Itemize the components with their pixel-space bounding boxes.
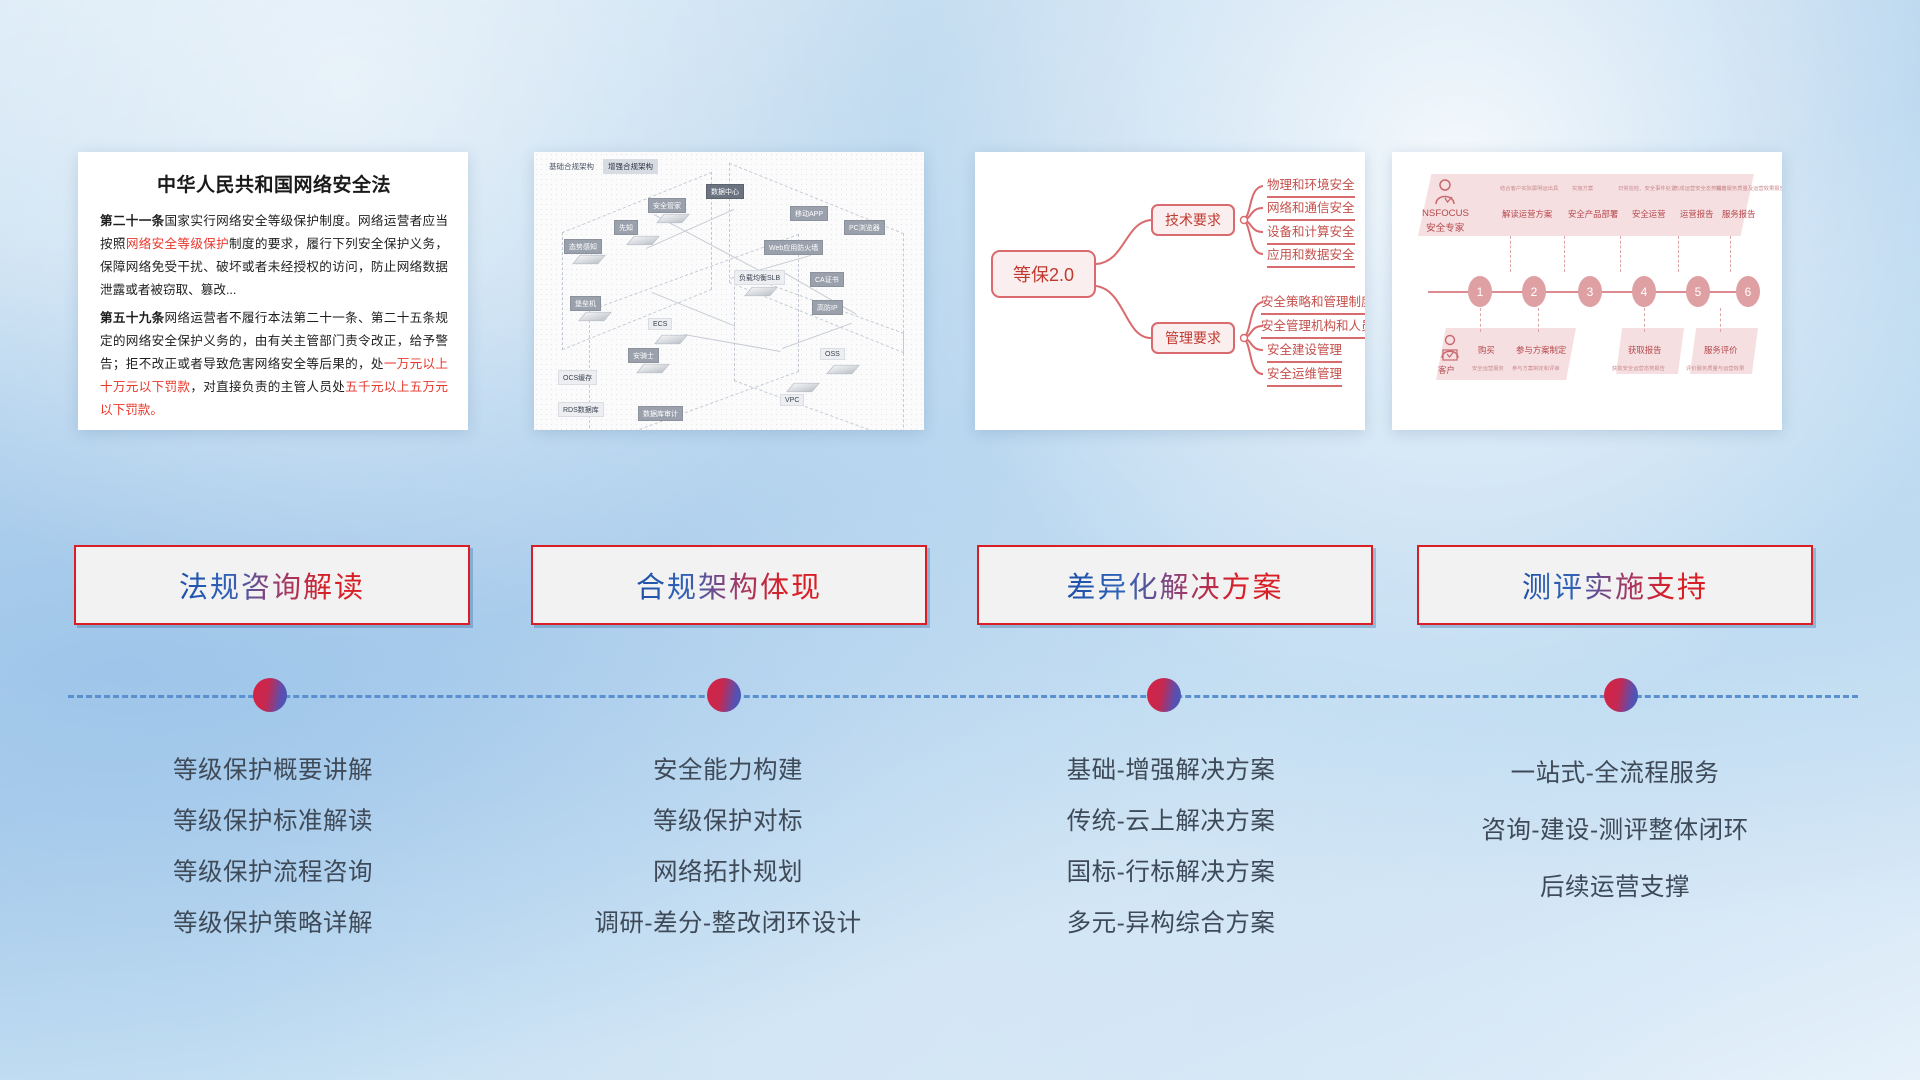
nsfocus-step: 1: [1468, 276, 1492, 307]
law-title: 中华人民共和国网络安全法: [100, 170, 448, 197]
image-card-row: 中华人民共和国网络安全法 第二十一条国家实行网络安全等级保护制度。网络运营者应当…: [0, 152, 1920, 432]
nsfocus-brand: NSFOCUS: [1422, 208, 1469, 219]
nsfocus-top-sub: 输出服务质量及运营效果报告: [1716, 184, 1782, 192]
nsfocus-step: 6: [1736, 276, 1760, 307]
customer-person-icon: [1438, 334, 1462, 362]
mindmap-branch-management: 管理要求: [1151, 322, 1235, 354]
nsfocus-top-label: 运营报告: [1680, 208, 1714, 220]
section-title-text: 法规咨询解读: [179, 564, 365, 606]
poster-canvas: 中华人民共和国网络安全法 第二十一条国家实行网络安全等级保护制度。网络运营者应当…: [0, 0, 1920, 1080]
arch-node-mobile-app: 移动APP: [790, 206, 828, 221]
mindmap-leaf: 设备和计算安全: [1267, 221, 1355, 245]
card-architecture-diagram: 基础合规架构 增强合规架构 数据中心 安全管家 先知 态势: [534, 152, 924, 430]
nsfocus-brand-sub: 安全专家: [1426, 220, 1464, 234]
nsfocus-top-sub: 结合客户实际需明运出具: [1500, 184, 1558, 192]
arch-node-ecs: ECS: [648, 318, 672, 330]
nsfocus-top-label: 安全产品部署: [1568, 208, 1618, 220]
law-article-21: 第二十一条国家实行网络安全等级保护制度。网络运营者应当按照网络安全等级保护制度的…: [100, 210, 448, 302]
arch-node-ca: CA证书: [810, 272, 844, 287]
nsfocus-top-sub: 日常巡检、安全事件处置: [1618, 184, 1676, 192]
detail-list-1: 等级保护概要讲解 等级保护标准解读 等级保护流程咨询 等级保护策略详解: [78, 745, 468, 949]
arch-node-bastion: 堡垒机: [570, 296, 601, 311]
article-21-label: 第二十一条: [100, 214, 165, 228]
arch-node-anti-ddos: 高防IP: [812, 300, 843, 315]
list-item: 国标-行标解决方案: [973, 847, 1369, 898]
list-item: 等级保护概要讲解: [78, 745, 468, 796]
article-21-highlight: 网络安全等级保护: [126, 237, 229, 251]
arch-node-db-audit: 数据库审计: [638, 406, 683, 421]
nsfocus-connector: [1620, 236, 1621, 272]
timeline-marker-1[interactable]: [253, 678, 287, 712]
list-item: 多元-异构综合方案: [973, 898, 1369, 949]
detail-list-4: 一站式-全流程服务 咨询-建设-测评整体闭环 后续运营支撑: [1410, 745, 1820, 916]
architecture-canvas: 基础合规架构 增强合规架构 数据中心 安全管家 先知 态势: [534, 152, 924, 430]
section-title-box-1[interactable]: 法规咨询解读: [74, 545, 470, 625]
nsfocus-canvas: NSFOCUS 安全专家 结合客户实际需明运出具 解读运营方案 实施方案 安全产…: [1392, 152, 1782, 430]
section-title-row: 法规咨询解读 合规架构体现 差异化解决方案 测评实施支持: [0, 545, 1920, 627]
section-title-box-4[interactable]: 测评实施支持: [1417, 545, 1813, 625]
section-title-box-2[interactable]: 合规架构体现: [531, 545, 927, 625]
detail-list-3: 基础-增强解决方案 传统-云上解决方案 国标-行标解决方案 多元-异构综合方案: [973, 745, 1369, 949]
mindmap-canvas: 等保2.0 技术要求 管理要求 物理和环境安全 网络和通信安全 设备和计算安全 …: [975, 152, 1365, 430]
nsfocus-customer: 客户: [1438, 364, 1455, 376]
list-item: 传统-云上解决方案: [973, 796, 1369, 847]
timeline-dashed-line: [68, 695, 1858, 698]
timeline-marker-3[interactable]: [1147, 678, 1181, 712]
nsfocus-bottom-sub: 安全运营服务: [1472, 364, 1504, 372]
nsfocus-step: 4: [1632, 276, 1656, 307]
architecture-tabs: 基础合规架构 增强合规架构: [544, 159, 658, 174]
article-59-label: 第五十九条: [100, 311, 165, 325]
nsfocus-bottom-label: 服务评价: [1704, 344, 1738, 356]
mindmap-leaf: 安全策略和管理制度: [1261, 291, 1365, 315]
arch-node-vpc: VPC: [780, 394, 804, 406]
list-item: 网络拓扑规划: [530, 847, 926, 898]
mindmap-leaf: 安全建设管理: [1267, 339, 1342, 363]
section-title-text: 合规架构体现: [636, 564, 822, 606]
nsfocus-connector: [1480, 308, 1481, 332]
card-nsfocus-timeline: NSFOCUS 安全专家 结合客户实际需明运出具 解读运营方案 实施方案 安全产…: [1392, 152, 1782, 430]
nsfocus-bottom-sub: 评价服务质量与运营效果: [1686, 364, 1744, 372]
arch-node-oss: OSS: [820, 348, 845, 360]
timeline-marker-2[interactable]: [707, 678, 741, 712]
nsfocus-connector: [1720, 308, 1721, 332]
timeline-marker-4[interactable]: [1604, 678, 1638, 712]
arch-node-waf: Web应用防火墙: [764, 240, 823, 255]
arch-node-pc-browser: PC浏览器: [844, 220, 885, 235]
list-item: 一站式-全流程服务: [1410, 745, 1820, 802]
card-law-document: 中华人民共和国网络安全法 第二十一条国家实行网络安全等级保护制度。网络运营者应当…: [78, 152, 468, 430]
list-item: 等级保护对标: [530, 796, 926, 847]
list-item: 等级保护标准解读: [78, 796, 468, 847]
nsfocus-bottom-sub: 参与方案制定和评审: [1512, 364, 1560, 372]
mindmap-branch-technical: 技术要求: [1151, 204, 1235, 236]
mindmap-root: 等保2.0: [991, 250, 1096, 298]
arch-tab-basic: 基础合规架构: [544, 159, 599, 174]
list-item: 后续运营支撑: [1410, 859, 1820, 916]
section-title-box-3[interactable]: 差异化解决方案: [977, 545, 1373, 625]
arch-node-security-butler: 安全管家: [648, 198, 686, 213]
arch-node-datacenter: 数据中心: [706, 184, 744, 199]
nsfocus-top-label: 安全运营: [1632, 208, 1666, 220]
mindmap-leaf: 网络和通信安全: [1267, 197, 1355, 221]
nsfocus-top-label: 解读运营方案: [1502, 208, 1552, 220]
arch-tab-enhanced: 增强合规架构: [603, 159, 658, 174]
article-59-mid: ，对直接负责的主管人员处: [190, 380, 345, 394]
nsfocus-top-label: 服务报告: [1722, 208, 1756, 220]
nsfocus-bottom-label: 获取报告: [1628, 344, 1662, 356]
list-item: 等级保护策略详解: [78, 898, 468, 949]
nsfocus-step: 2: [1522, 276, 1546, 307]
mindmap-leaf: 应用和数据安全: [1267, 244, 1355, 268]
nsfocus-connector: [1538, 308, 1539, 332]
mindmap-leaf: 安全运维管理: [1267, 363, 1342, 387]
list-item: 基础-增强解决方案: [973, 745, 1369, 796]
mindmap-leaf: 安全管理机构和人员: [1261, 315, 1365, 339]
nsfocus-connector: [1730, 236, 1731, 272]
law-article-59: 第五十九条网络运营者不履行本法第二十一条、第二十五条规定的网络安全保护义务的，由…: [100, 307, 448, 422]
nsfocus-step: 5: [1686, 276, 1710, 307]
arch-node-rds: RDS数据库: [558, 402, 604, 417]
section-title-text: 差异化解决方案: [1066, 564, 1283, 606]
nsfocus-connector: [1644, 308, 1645, 332]
law-body: 中华人民共和国网络安全法 第二十一条国家实行网络安全等级保护制度。网络运营者应当…: [78, 152, 468, 430]
arch-node-situational-awareness: 态势感知: [564, 239, 602, 254]
list-item: 调研-差分-整改闭环设计: [530, 898, 926, 949]
arch-node-ocs: OCS缓存: [558, 370, 597, 385]
nsfocus-top-sub: 实施方案: [1572, 184, 1593, 192]
expert-person-icon: [1432, 178, 1458, 208]
arch-node-xianzhi: 先知: [614, 220, 638, 235]
list-item: 安全能力构建: [530, 745, 926, 796]
arch-node-anqishi: 安骑士: [628, 348, 659, 363]
card-mindmap: 等保2.0 技术要求 管理要求 物理和环境安全 网络和通信安全 设备和计算安全 …: [975, 152, 1365, 430]
nsfocus-bottom-label: 购买: [1478, 344, 1495, 356]
nsfocus-connector: [1678, 236, 1679, 272]
nsfocus-connector: [1564, 236, 1565, 272]
nsfocus-step: 3: [1578, 276, 1602, 307]
section-title-text: 测评实施支持: [1522, 564, 1708, 606]
nsfocus-bottom-sub: 获取安全运营态势报告: [1612, 364, 1665, 372]
detail-list-2: 安全能力构建 等级保护对标 网络拓扑规划 调研-差分-整改闭环设计: [530, 745, 926, 949]
mindmap-leaf: 物理和环境安全: [1267, 174, 1355, 198]
arch-node-slb: 负载均衡SLB: [734, 270, 785, 285]
list-item: 咨询-建设-测评整体闭环: [1410, 802, 1820, 859]
nsfocus-bottom-label: 参与方案制定: [1516, 344, 1566, 356]
nsfocus-connector: [1510, 236, 1511, 272]
list-item: 等级保护流程咨询: [78, 847, 468, 898]
